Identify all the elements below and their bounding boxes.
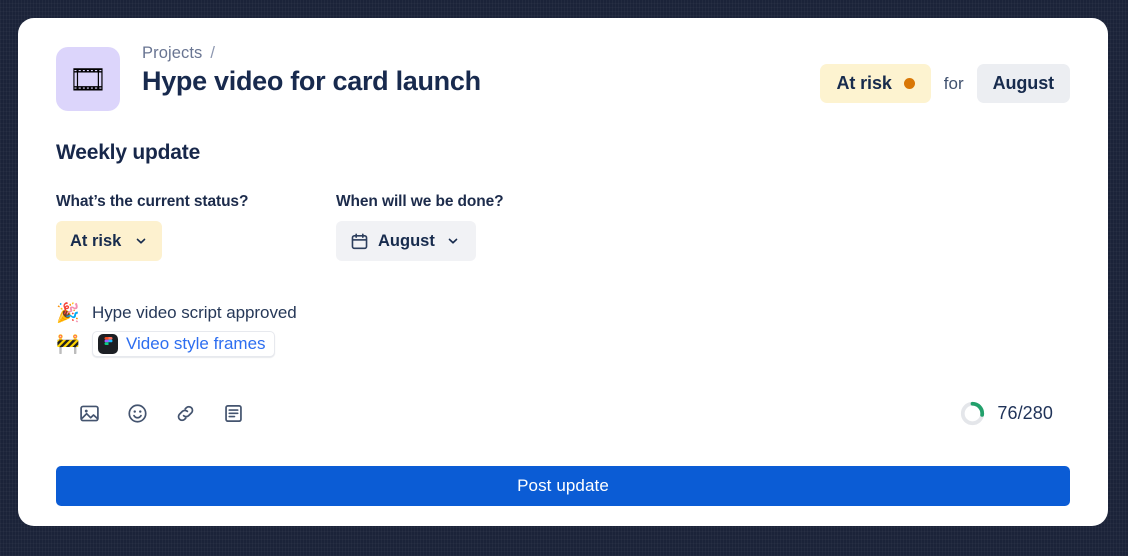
progress-ring-icon: [960, 401, 985, 426]
status-badge-label: At risk: [836, 73, 891, 94]
editor-toolbar: 76/280: [74, 398, 1070, 428]
breadcrumb: Projects /: [142, 44, 798, 63]
section-title: Weekly update: [56, 141, 1088, 165]
date-select[interactable]: August: [336, 221, 476, 261]
breadcrumb-item-projects[interactable]: Projects: [142, 44, 202, 63]
date-select-value: August: [378, 232, 435, 251]
title-block: Projects / Hype video for card launch: [142, 44, 798, 98]
status-select[interactable]: At risk: [56, 221, 162, 261]
calendar-icon: [350, 232, 369, 251]
update-line: 🚧 Video style frames: [56, 330, 1088, 358]
document-icon[interactable]: [218, 398, 248, 428]
form-row: What’s the current status? At risk When …: [56, 193, 1088, 261]
month-badge-label: August: [993, 73, 1054, 94]
breadcrumb-separator: /: [210, 44, 215, 63]
chevron-down-icon: [446, 234, 460, 248]
header-status-group: At risk for August: [820, 44, 1088, 103]
update-line-text: Hype video script approved: [92, 303, 297, 323]
character-counter: 76/280: [960, 401, 1070, 426]
construction-emoji: 🚧: [56, 335, 80, 354]
date-field: When will we be done? August: [336, 193, 504, 261]
chevron-down-icon: [134, 234, 148, 248]
date-field-label: When will we be done?: [336, 193, 504, 211]
update-line: 🎉 Hype video script approved: [56, 299, 1088, 327]
party-popper-emoji: 🎉: [56, 304, 80, 323]
smart-link-chip[interactable]: Video style frames: [92, 331, 275, 357]
status-select-value: At risk: [70, 232, 121, 251]
update-text-area[interactable]: 🎉 Hype video script approved 🚧: [56, 299, 1088, 358]
for-label: for: [944, 74, 964, 94]
figma-icon: [98, 334, 118, 354]
post-update-button[interactable]: Post update: [56, 466, 1070, 506]
emoji-icon[interactable]: [122, 398, 152, 428]
film-frames-icon: 🎞: [68, 64, 107, 95]
page-title: Hype video for card launch: [142, 65, 798, 98]
link-icon[interactable]: [170, 398, 200, 428]
smart-link-text[interactable]: Video style frames: [126, 334, 266, 354]
project-avatar: 🎞: [56, 47, 120, 111]
character-counter-text: 76/280: [997, 403, 1053, 424]
month-badge[interactable]: August: [977, 64, 1070, 103]
status-field-label: What’s the current status?: [56, 193, 336, 211]
toolbar-icon-group: [74, 398, 248, 428]
image-icon[interactable]: [74, 398, 104, 428]
card-header: 🎞 Projects / Hype video for card launch …: [56, 44, 1088, 111]
status-field: What’s the current status? At risk: [56, 193, 336, 261]
status-badge[interactable]: At risk: [820, 64, 930, 103]
update-card: 🎞 Projects / Hype video for card launch …: [18, 18, 1108, 526]
status-dot-icon: [904, 78, 915, 89]
